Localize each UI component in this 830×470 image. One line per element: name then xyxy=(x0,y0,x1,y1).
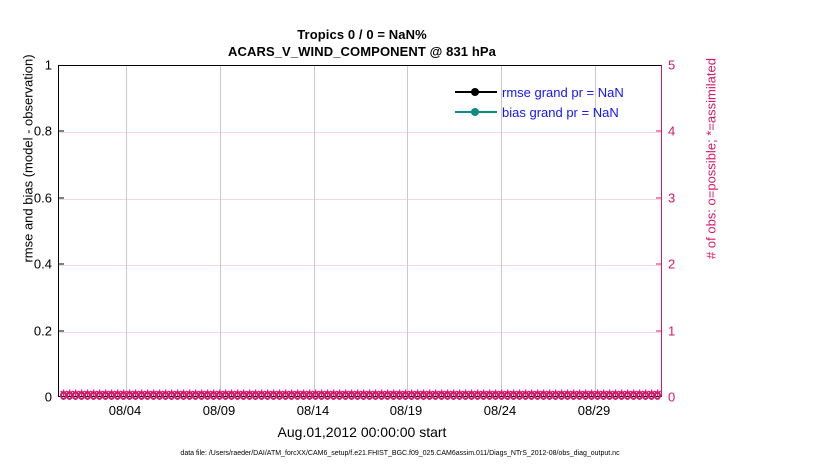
y-axis-right-tick-label: 5 xyxy=(668,59,675,72)
vertical-gridline xyxy=(220,66,221,396)
plot-area: ****************************************… xyxy=(58,65,662,397)
horizontal-gridline xyxy=(59,332,661,333)
y-axis-left-tick-label: 0.2 xyxy=(34,324,52,337)
observation-marker: * xyxy=(654,390,661,401)
y-axis-right-tick-mark xyxy=(656,264,662,265)
y-axis-right-tick-label: 1 xyxy=(668,324,675,337)
x-axis-tick-label: 08/24 xyxy=(484,403,517,418)
data-file-path-caption: data file: /Users/raeder/DAI/ATM_forcXX/… xyxy=(0,449,800,458)
legend-label-bias: bias grand pr = NaN xyxy=(502,105,619,120)
legend-label-rmse: rmse grand pr = NaN xyxy=(502,85,624,100)
y-axis-right-tick-label: 4 xyxy=(668,125,675,138)
y-axis-right-tick-mark xyxy=(656,330,662,331)
y-axis-left-tick-mark xyxy=(58,197,64,198)
y-axis-left-title: rmse and bias (model - observation) xyxy=(21,0,36,324)
horizontal-gridline xyxy=(59,132,661,133)
chart-legend: rmse grand pr = NaN bias grand pr = NaN xyxy=(451,80,628,124)
y-axis-right-tick-label: 2 xyxy=(668,258,675,271)
legend-line-marker-rmse xyxy=(455,86,497,98)
chart-title-line-1: Tropics 0 / 0 = NaN% xyxy=(0,26,724,43)
y-axis-left-tick-label: 1 xyxy=(45,59,52,72)
y-axis-right-tick-mark xyxy=(656,197,662,198)
vertical-gridline xyxy=(314,66,315,396)
legend-item-rmse[interactable]: rmse grand pr = NaN xyxy=(455,82,624,102)
y-axis-right-ticks: 012345 xyxy=(668,0,698,470)
horizontal-gridline xyxy=(59,199,661,200)
vertical-gridline xyxy=(126,66,127,396)
y-axis-left-tick-mark xyxy=(58,330,64,331)
y-axis-left-tick-label: 0.6 xyxy=(34,191,52,204)
legend-line-marker-bias xyxy=(455,106,497,118)
horizontal-gridline xyxy=(59,265,661,266)
y-axis-right-tick-label: 0 xyxy=(668,391,675,404)
chart-title-line-2: ACARS_V_WIND_COMPONENT @ 831 hPa xyxy=(0,43,724,60)
y-axis-right-title: # of obs: o=possible; *=assimilated xyxy=(704,0,719,324)
x-axis-tick-label: 08/19 xyxy=(390,403,423,418)
y-axis-left-tick-label: 0.4 xyxy=(34,258,52,271)
y-axis-left-tick-mark xyxy=(58,131,64,132)
x-axis-title: Aug.01,2012 00:00:00 start xyxy=(0,424,724,440)
y-axis-right-tick-label: 3 xyxy=(668,191,675,204)
observation-marker-row: ****************************************… xyxy=(59,390,661,401)
y-axis-left-tick-mark xyxy=(58,264,64,265)
x-axis-tick-label: 08/04 xyxy=(109,403,142,418)
x-axis-tick-label: 08/09 xyxy=(203,403,236,418)
y-axis-left-tick-label: 0.8 xyxy=(34,125,52,138)
vertical-gridline xyxy=(407,66,408,396)
y-axis-left-tick-label: 0 xyxy=(45,391,52,404)
y-axis-right-tick-mark xyxy=(656,131,662,132)
x-axis-tick-label: 08/14 xyxy=(297,403,330,418)
legend-item-bias[interactable]: bias grand pr = NaN xyxy=(455,102,624,122)
x-axis-tick-label: 08/29 xyxy=(578,403,611,418)
chart-title-block: Tropics 0 / 0 = NaN% ACARS_V_WIND_COMPON… xyxy=(0,26,724,60)
